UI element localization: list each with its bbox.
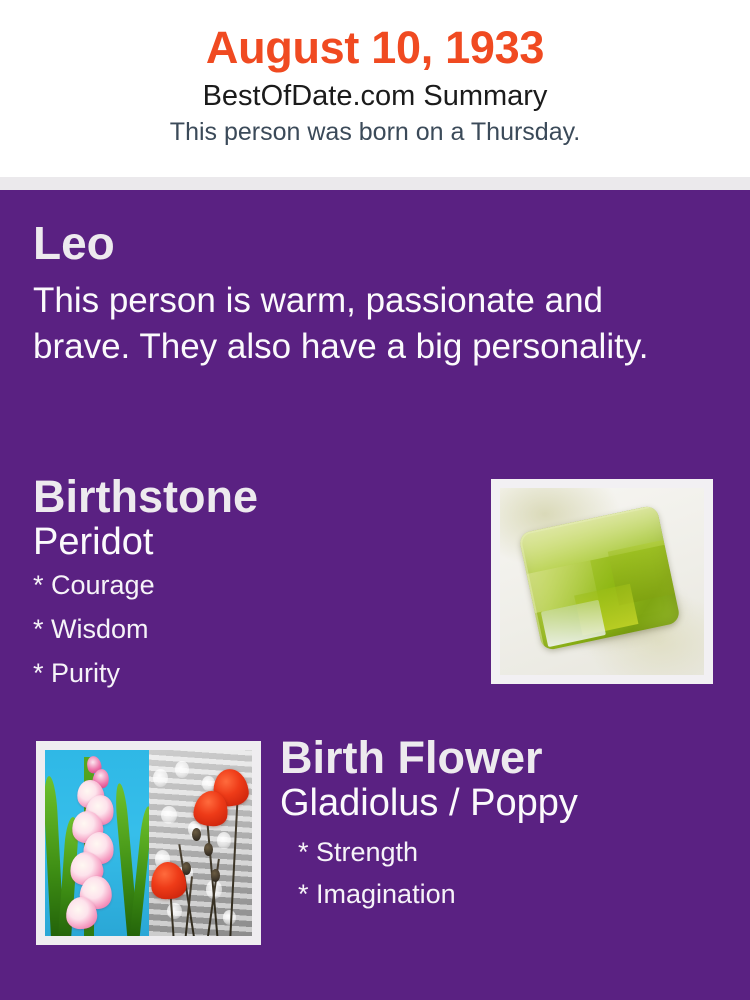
birth-flower-section: Birth Flower Gladiolus / Poppy * Strengt… xyxy=(280,735,720,923)
birth-flower-image-frame xyxy=(36,741,261,945)
weekday-statement: This person was born on a Thursday. xyxy=(0,112,750,146)
peridot-gemstone-image xyxy=(500,488,704,675)
birth-flower-name: Gladiolus / Poppy xyxy=(280,781,720,825)
birth-flower-trait-list: * Strength * Imagination xyxy=(280,825,720,923)
bokeh-highlight xyxy=(153,769,169,788)
site-subtitle: BestOfDate.com Summary xyxy=(0,73,750,112)
list-item: * Courage xyxy=(33,572,463,616)
list-item: * Strength xyxy=(298,839,720,881)
bokeh-highlight xyxy=(161,806,178,825)
summary-card: August 10, 1933 BestOfDate.com Summary T… xyxy=(0,0,750,1000)
birthstone-section: Birthstone Peridot * Courage * Wisdom * … xyxy=(33,474,463,704)
poppy-bud xyxy=(204,843,213,856)
header: August 10, 1933 BestOfDate.com Summary T… xyxy=(0,0,750,177)
bokeh-highlight xyxy=(167,903,181,920)
header-divider xyxy=(0,177,750,190)
birth-flower-title: Birth Flower xyxy=(280,735,720,781)
zodiac-description: This person is warm, passionate and brav… xyxy=(33,266,681,369)
bokeh-highlight xyxy=(175,761,188,778)
gladiolus-photo-half xyxy=(45,750,149,936)
birthstone-name: Peridot xyxy=(33,520,463,564)
birthstone-title: Birthstone xyxy=(33,474,463,520)
list-item: * Imagination xyxy=(298,881,720,923)
birthstone-trait-list: * Courage * Wisdom * Purity xyxy=(33,564,463,704)
birthstone-image-frame xyxy=(491,479,713,684)
bokeh-highlight xyxy=(217,832,231,849)
page-title-date: August 10, 1933 xyxy=(0,0,750,73)
poppy-bud xyxy=(192,828,201,841)
zodiac-sign-name: Leo xyxy=(33,220,693,266)
gladiolus-and-poppy-image xyxy=(45,750,252,936)
zodiac-section: Leo This person is warm, passionate and … xyxy=(33,220,693,369)
list-item: * Purity xyxy=(33,660,463,704)
list-item: * Wisdom xyxy=(33,616,463,660)
poppy-photo-half xyxy=(149,750,253,936)
poppy-bud xyxy=(211,869,220,882)
